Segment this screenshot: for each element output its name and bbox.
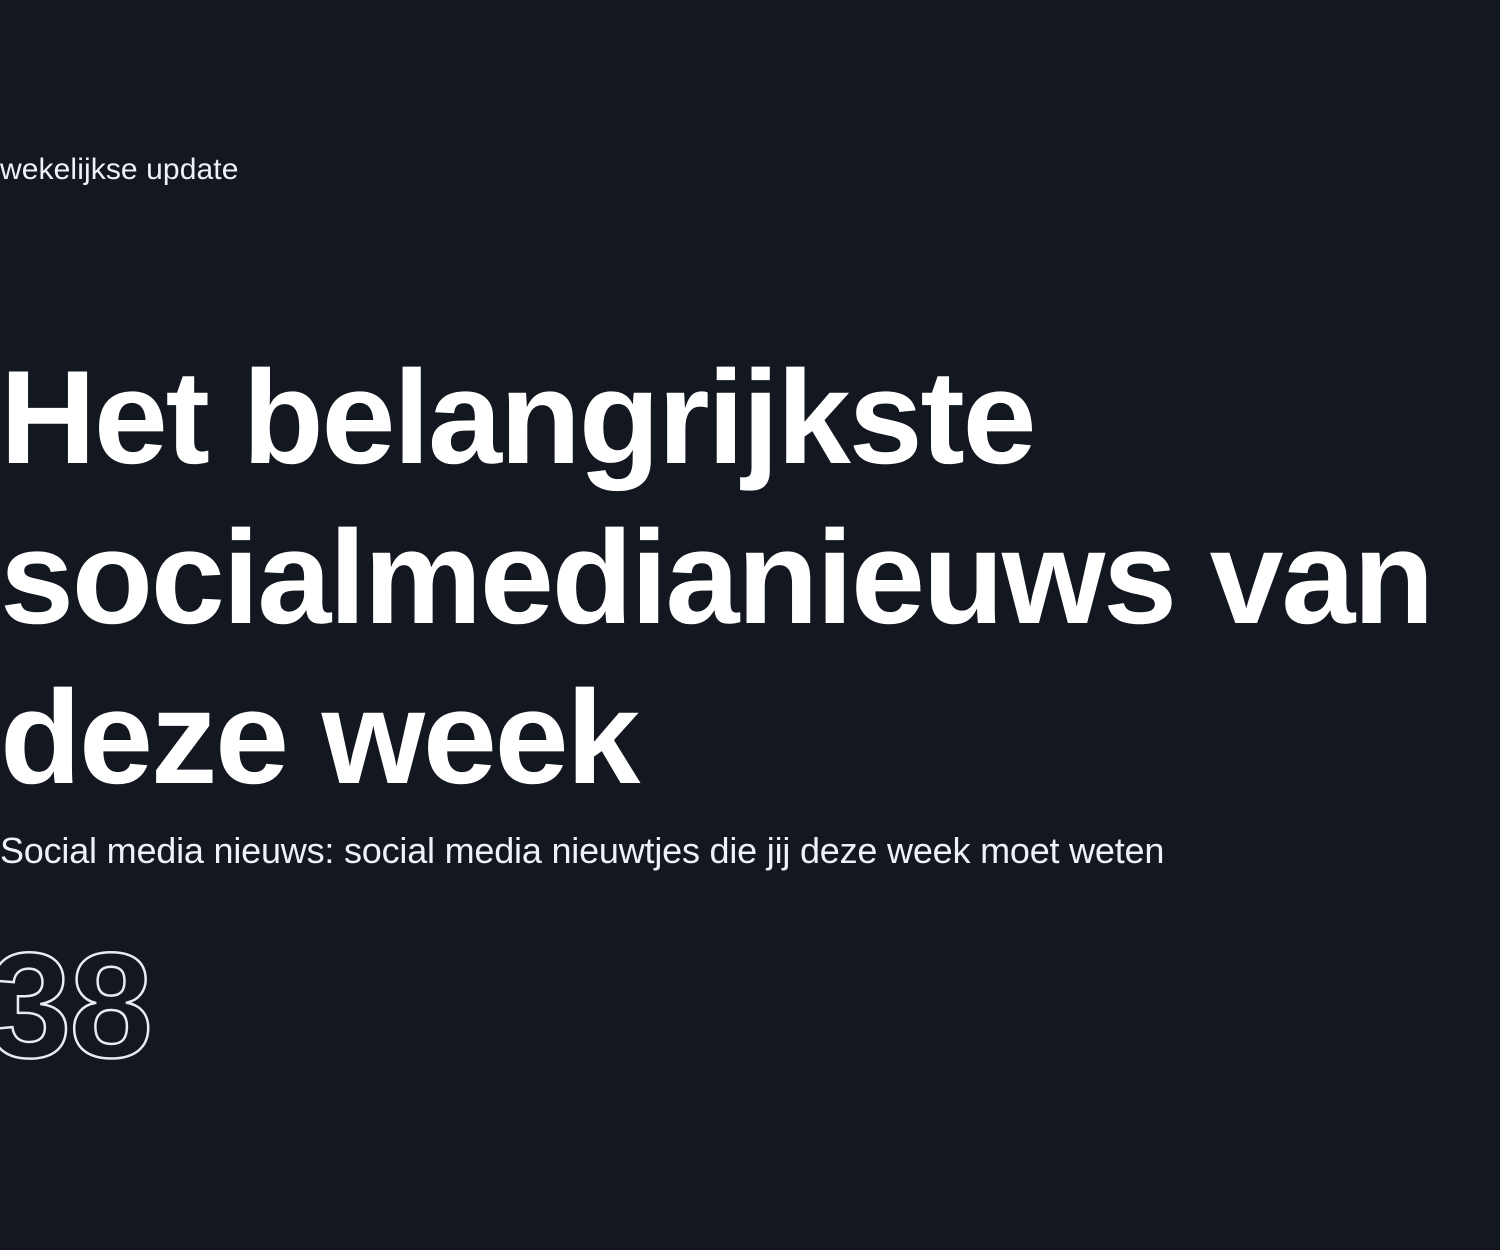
page-title: Het belangrijkste socialmedianieuws van … <box>0 338 1500 818</box>
headline-line-1: Het belangrijkste <box>0 338 1500 498</box>
headline-line-2: socialmedianieuws van <box>0 498 1500 658</box>
subtitle: Social media nieuws: social media nieuwt… <box>0 828 1164 873</box>
eyebrow-label: wekelijkse update <box>0 152 239 188</box>
issue-number: 38 <box>0 930 151 1080</box>
headline-line-3: deze week <box>0 658 1500 818</box>
hero-card: wekelijkse update Het belangrijkste soci… <box>0 0 1500 1250</box>
